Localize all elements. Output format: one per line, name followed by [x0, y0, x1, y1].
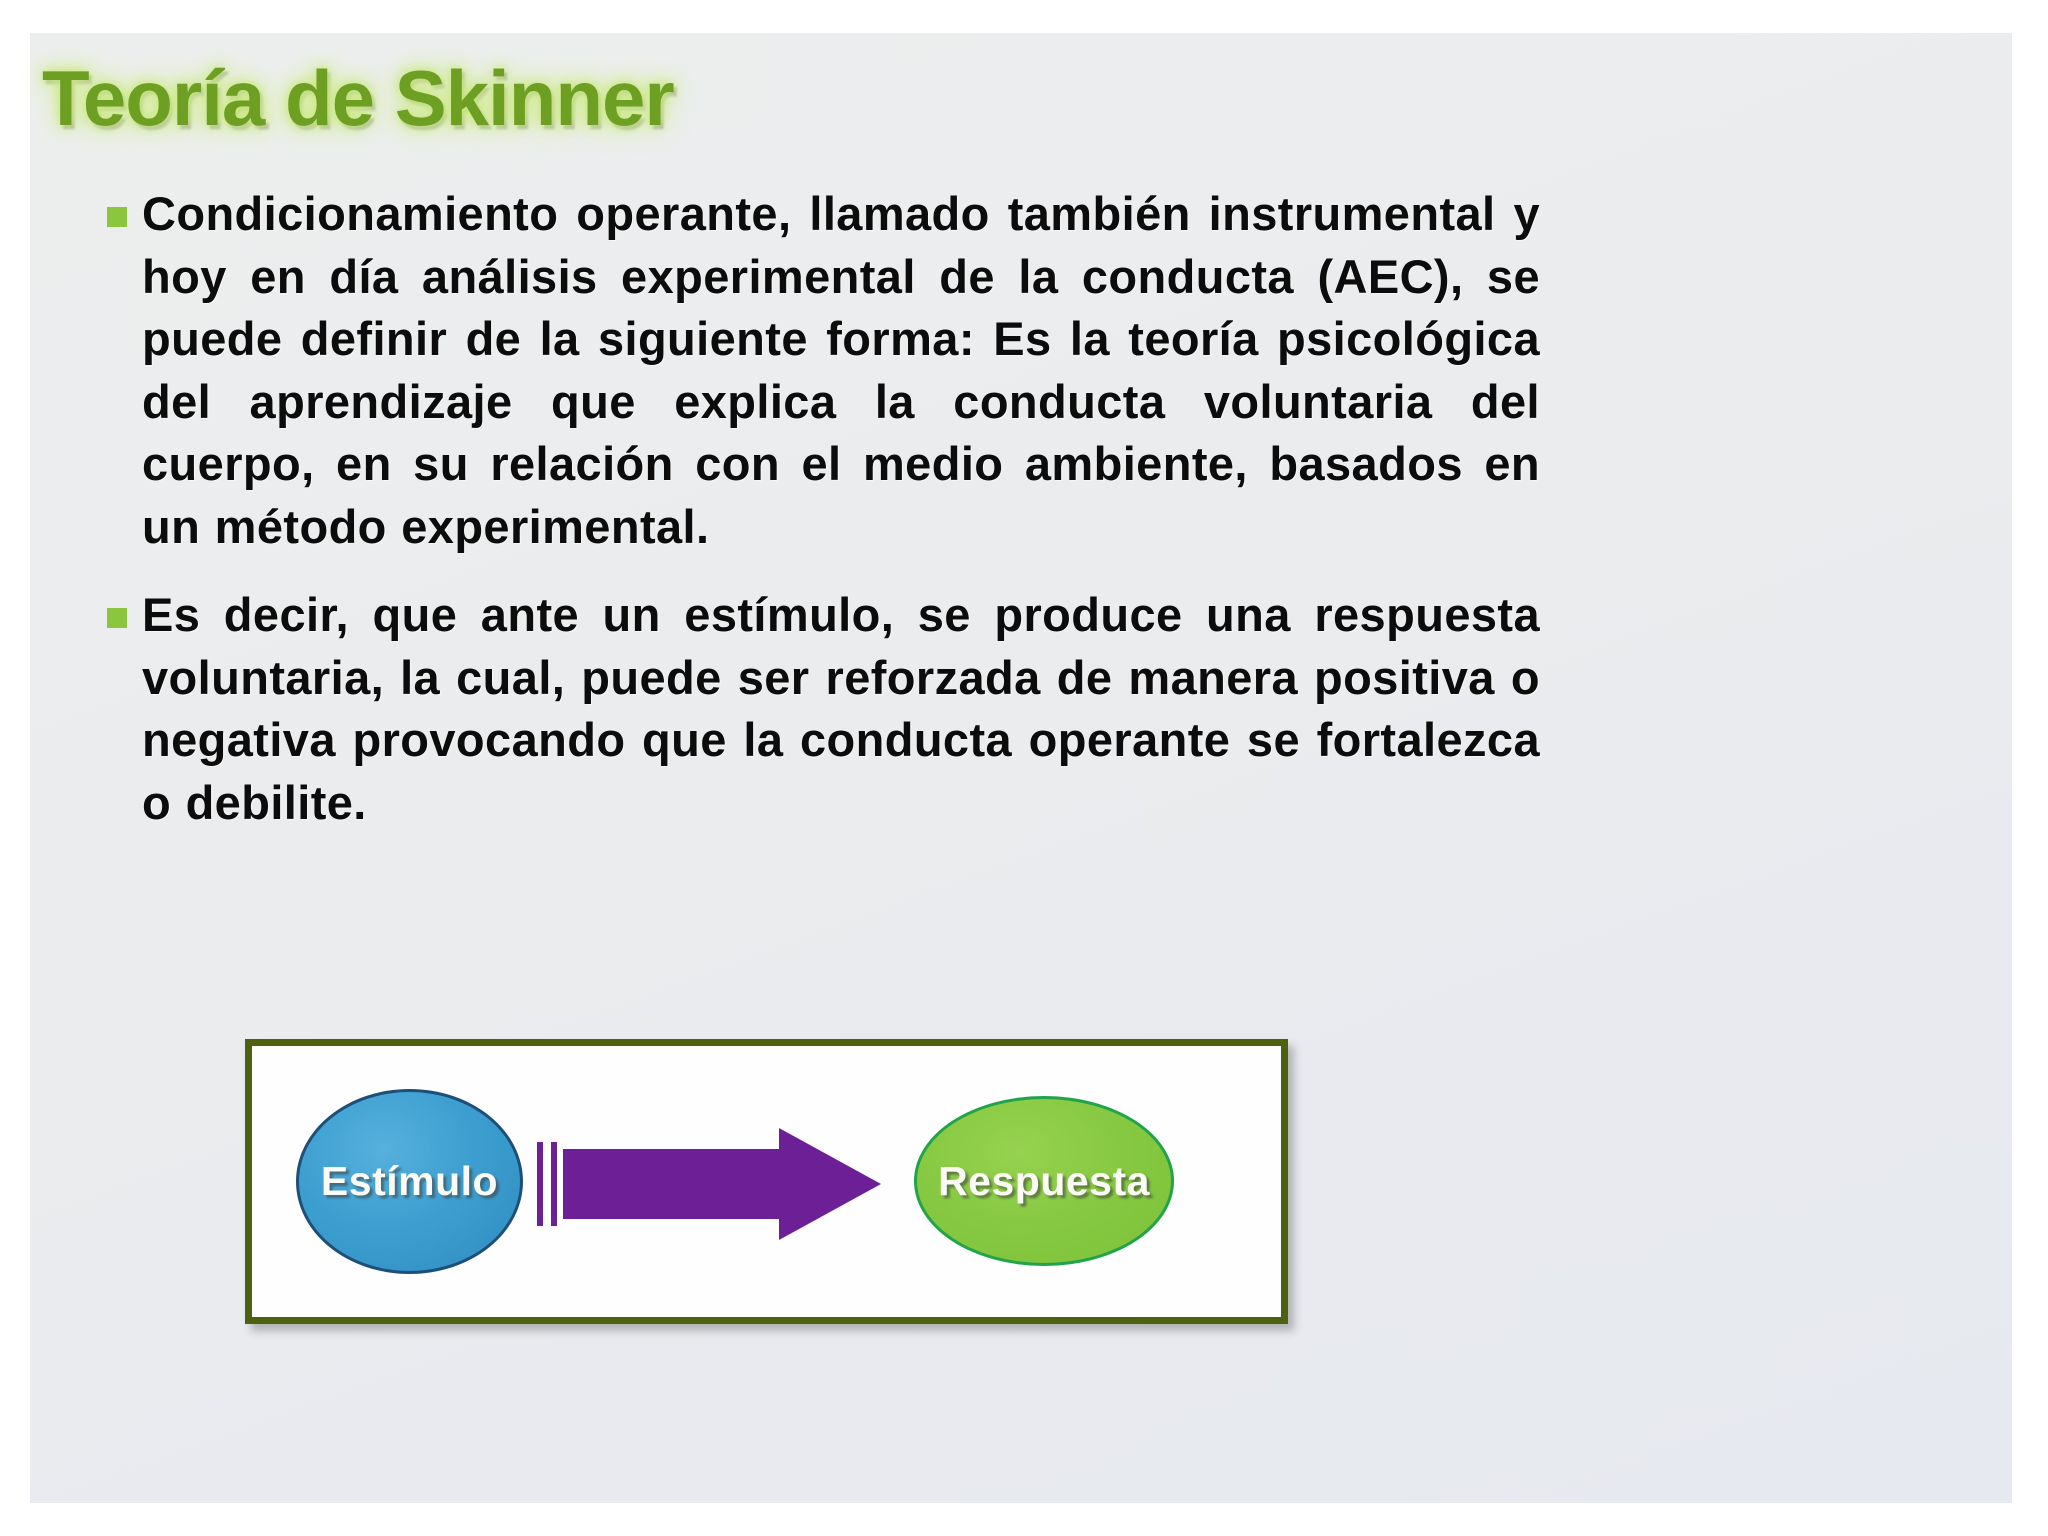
arrow-head-icon: [779, 1128, 881, 1240]
response-node: Respuesta: [914, 1096, 1174, 1266]
list-item-label: Es decir, que ante un estímulo, se produ…: [142, 584, 1540, 834]
diagram-canvas: Estímulo Respuesta: [252, 1046, 1281, 1317]
arrow-tail-tick-icon: [537, 1142, 543, 1226]
arrow-shaft-icon: [563, 1149, 787, 1219]
square-bullet-icon: [107, 608, 127, 628]
list-item: Condicionamiento operante, llamado tambi…: [100, 183, 1540, 558]
list-item-label: Condicionamiento operante, llamado tambi…: [142, 183, 1540, 558]
list-item: Es decir, que ante un estímulo, se produ…: [100, 584, 1540, 834]
response-node-label: Respuesta: [938, 1158, 1150, 1205]
stimulus-response-diagram: Estímulo Respuesta: [245, 1039, 1288, 1324]
stimulus-node-label: Estímulo: [321, 1158, 498, 1205]
bullet-list: Condicionamiento operante, llamado tambi…: [100, 183, 1540, 860]
square-bullet-icon: [107, 207, 127, 227]
slide-canvas: Teoría de Skinner Condicionamiento opera…: [30, 33, 2012, 1503]
page-title: Teoría de Skinner: [42, 53, 674, 144]
arrow-right-icon: [537, 1134, 897, 1234]
stimulus-node: Estímulo: [296, 1089, 523, 1274]
arrow-tail-tick-icon: [551, 1142, 557, 1226]
